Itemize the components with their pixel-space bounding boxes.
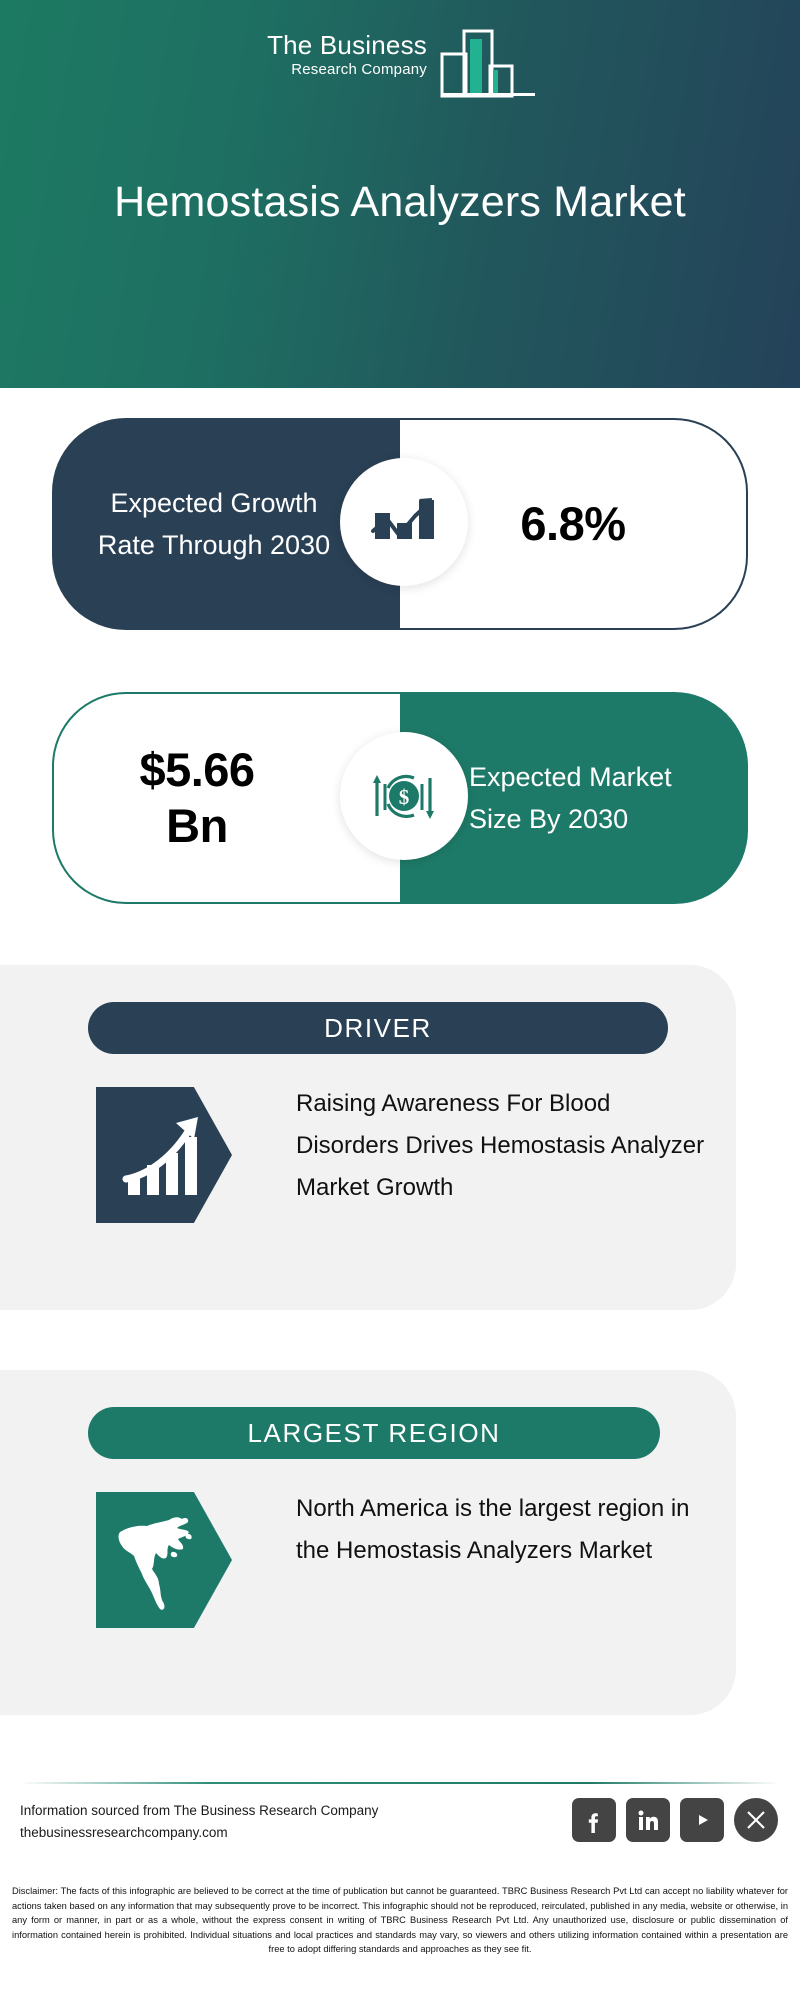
footer-source: Information sourced from The Business Re… (20, 1800, 378, 1844)
stat-value-line-2: Bn (127, 798, 267, 854)
panel-driver: DRIVER Raising Awareness For Blood Disor… (0, 965, 736, 1310)
stat-value: 6.8% (520, 496, 625, 552)
growth-chart-arrow-icon (367, 485, 441, 559)
rising-bar-chart-arrow-icon (118, 1109, 210, 1201)
linkedin-link[interactable] (626, 1798, 670, 1842)
youtube-icon (688, 1806, 716, 1834)
logo-wordmark: The Business Research Company (222, 30, 427, 79)
panel-description: Raising Awareness For Blood Disorders Dr… (296, 1083, 706, 1209)
page-title: Hemostasis Analyzers Market (0, 176, 800, 228)
facebook-link[interactable] (572, 1798, 616, 1842)
stat-icon-badge (340, 458, 468, 586)
panel-pill-label: DRIVER (88, 1002, 668, 1054)
panel-icon-wrapper (96, 1087, 232, 1223)
x-twitter-link[interactable] (734, 1798, 778, 1842)
x-twitter-icon (743, 1807, 769, 1833)
svg-text:$: $ (399, 785, 410, 809)
stat-label: Expected Growth Rate Through 2030 (96, 482, 356, 566)
stat-value-line-1: $5.66 (127, 742, 267, 798)
panel-icon-wrapper (96, 1492, 232, 1628)
social-links (572, 1798, 778, 1842)
stat-label: Expected Market Size By 2030 (439, 756, 709, 840)
footer-source-url[interactable]: thebusinessresearchcompany.com (20, 1822, 378, 1844)
panel-description: North America is the largest region in t… (296, 1488, 706, 1572)
logo-line-1: The Business (222, 30, 427, 60)
stat-value: $5.66 Bn (127, 742, 327, 854)
facebook-icon (581, 1807, 607, 1833)
disclaimer-text: Disclaimer: The facts of this infographi… (12, 1884, 788, 1957)
panel-largest-region: LARGEST REGION North America is the larg… (0, 1370, 736, 1715)
north-america-map-icon (114, 1508, 214, 1612)
stat-card-market-size: $5.66 Bn Expected Market Size By 2030 $ (52, 692, 748, 904)
footer-divider (20, 1782, 780, 1784)
company-logo: The Business Research Company (222, 22, 534, 102)
footer-source-line-1: Information sourced from The Business Re… (20, 1800, 378, 1822)
panel-pill-label: LARGEST REGION (88, 1407, 660, 1459)
header-banner: The Business Research Company Hemostasis… (0, 0, 800, 388)
bar-chart-logo-mark-icon (427, 22, 535, 102)
linkedin-icon (635, 1807, 661, 1833)
youtube-link[interactable] (680, 1798, 724, 1842)
dollar-circular-arrows-icon: $ (366, 758, 442, 834)
logo-line-2: Research Company (222, 60, 427, 79)
stat-icon-badge: $ (340, 732, 468, 860)
stat-card-growth-rate: Expected Growth Rate Through 2030 6.8% (52, 418, 748, 630)
